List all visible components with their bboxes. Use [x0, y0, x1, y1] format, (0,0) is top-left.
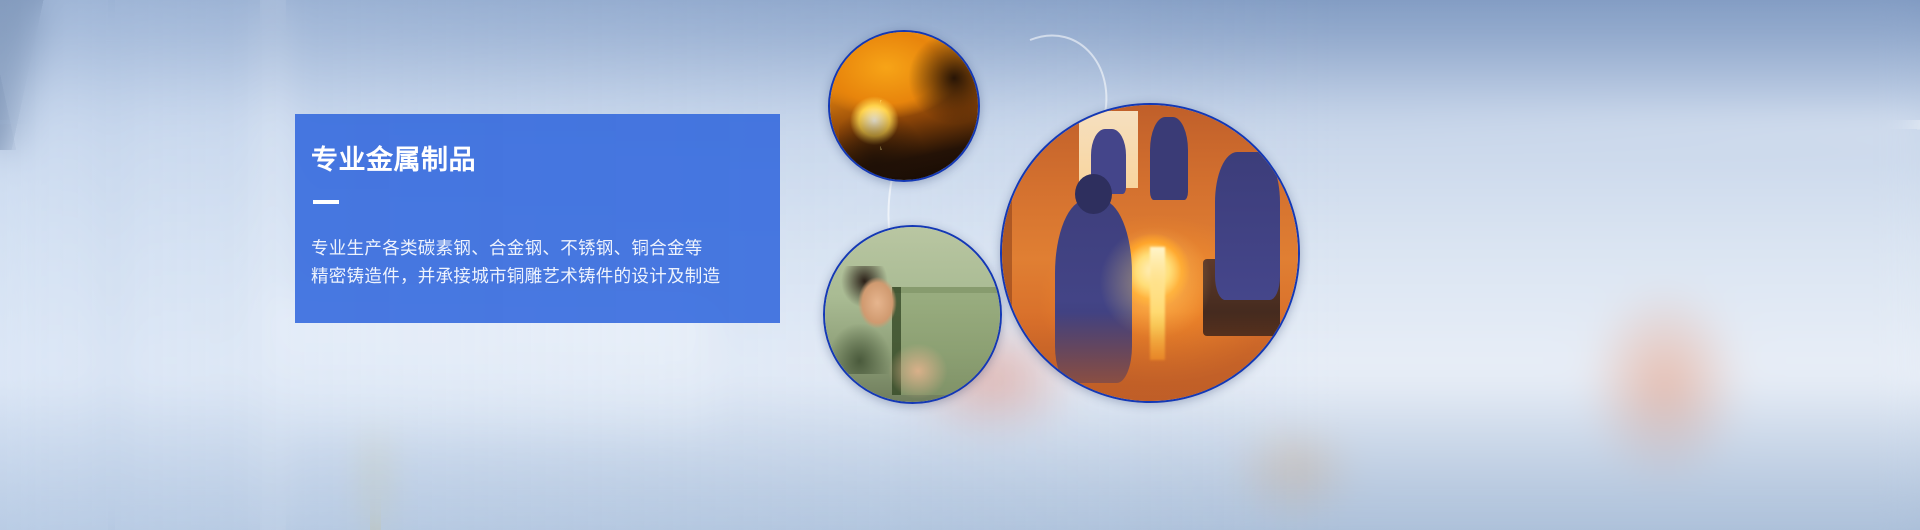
- panel-description: 专业生产各类碳素钢、合金钢、不锈钢、铜合金等 精密铸造件，并承接城市铜雕艺术铸件…: [311, 234, 780, 290]
- foundry-photo-floor: [1002, 312, 1298, 401]
- panel-description-line-2: 精密铸造件，并承接城市铜雕艺术铸件的设计及制造: [311, 262, 780, 290]
- foundry-photo: [1000, 103, 1300, 403]
- headline-panel: 专业金属制品 专业生产各类碳素钢、合金钢、不锈钢、铜合金等 精密铸造件，并承接城…: [295, 114, 780, 323]
- inspection-photo-hand: [888, 343, 948, 399]
- inspection-photo: [823, 225, 1002, 404]
- page-title: 专业金属制品: [311, 147, 780, 174]
- hero-banner: 专业金属制品 专业生产各类碳素钢、合金钢、不锈钢、铜合金等 精密铸造件，并承接城…: [0, 0, 1920, 530]
- welding-photo: [828, 30, 980, 182]
- welding-photo-worker: [839, 109, 928, 177]
- panel-description-line-1: 专业生产各类碳素钢、合金钢、不锈钢、铜合金等: [311, 234, 780, 262]
- title-divider: [313, 200, 339, 204]
